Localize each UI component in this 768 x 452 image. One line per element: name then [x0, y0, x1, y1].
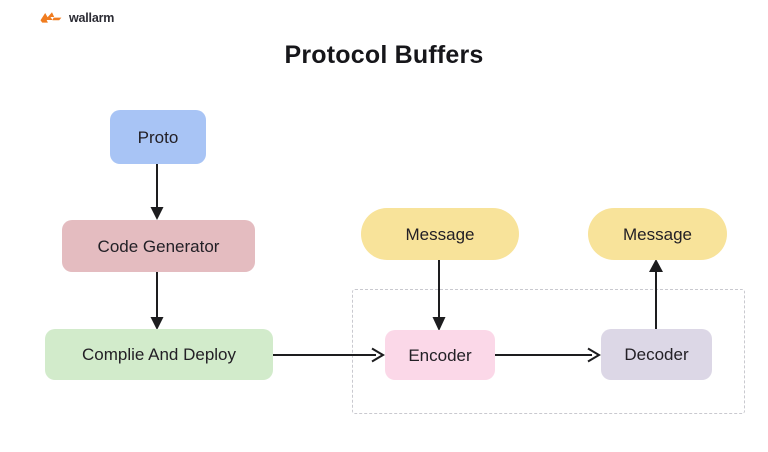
- node-encoder[interactable]: Encoder: [385, 330, 495, 380]
- page-title: Protocol Buffers: [0, 41, 768, 70]
- connector-proto-to-codegen: [146, 162, 170, 222]
- node-proto[interactable]: Proto: [110, 110, 206, 164]
- node-code-generator[interactable]: Code Generator: [62, 220, 255, 272]
- node-complie-and-deploy[interactable]: Complie And Deploy: [45, 329, 273, 380]
- node-complie-and-deploy-label: Complie And Deploy: [82, 346, 236, 363]
- node-message-output-label: Message: [623, 226, 692, 243]
- diagram-canvas: wallarm Protocol Buffers Proto Code Gene…: [0, 0, 768, 452]
- connector-compile-to-encoder: [272, 344, 388, 366]
- node-proto-label: Proto: [138, 129, 179, 146]
- node-message-input-label: Message: [406, 226, 475, 243]
- connector-decoder-to-message2: [645, 258, 669, 330]
- wallarm-logo-text: wallarm: [69, 12, 114, 25]
- wallarm-bolt-icon: [40, 11, 62, 25]
- node-encoder-label: Encoder: [408, 347, 471, 364]
- node-message-input[interactable]: Message: [361, 208, 519, 260]
- node-decoder[interactable]: Decoder: [601, 329, 712, 380]
- connector-message1-to-encoder: [428, 259, 452, 333]
- node-decoder-label: Decoder: [624, 346, 688, 363]
- node-message-output[interactable]: Message: [588, 208, 727, 260]
- node-code-generator-label: Code Generator: [98, 238, 220, 255]
- connector-encoder-to-decoder: [494, 344, 604, 366]
- wallarm-logo: wallarm: [40, 11, 114, 25]
- connector-codegen-to-compile: [146, 272, 170, 332]
